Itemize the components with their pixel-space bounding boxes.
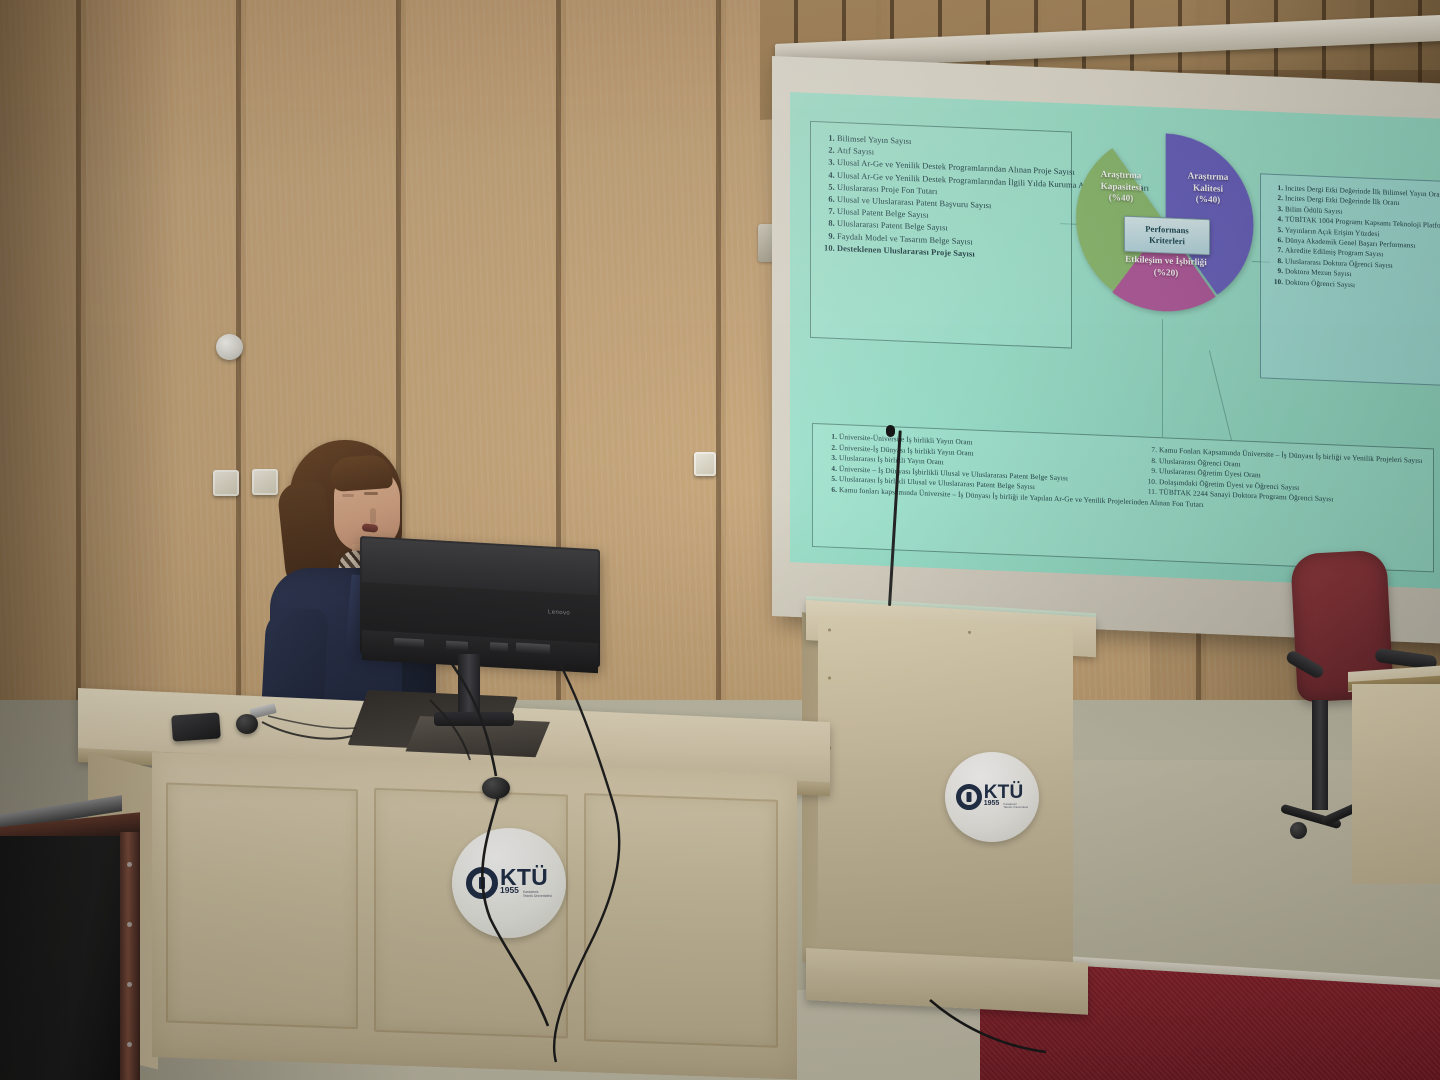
- pie-label-arastirma-kapasitesi: Araştırma Kapasitesi (%40): [1082, 168, 1160, 206]
- ktu-emblem-icon: [466, 867, 498, 899]
- ktu-logo-year: 1955: [984, 801, 1000, 807]
- side-table-body: [1352, 684, 1440, 884]
- lapel-microphone[interactable]: [236, 714, 258, 734]
- bottom-column-right: Kamu Fonları Kapsamında Üniversite – İş …: [1141, 444, 1423, 571]
- bottom-right-list: Kamu Fonları Kapsamında Üniversite – İş …: [1141, 444, 1423, 509]
- ceiling-speaker-icon: [216, 334, 243, 360]
- bottom-column-left: Üniversite-Üniversite İş birlikli Yayın …: [817, 431, 1135, 559]
- hair-fringe: [329, 454, 393, 492]
- light-switch[interactable]: [213, 470, 239, 496]
- left-criteria-list: Bilimsel Yayın SayısıAtıf SayısıUlusal A…: [815, 132, 1065, 264]
- ktu-logo-tagline-2: Teknik Üniversitesi: [1003, 805, 1028, 809]
- slide-left-criteria-panel: Bilimsel Yayın SayısıAtıf SayısıUlusal A…: [810, 121, 1072, 349]
- cable-grommet-knob: [482, 777, 510, 799]
- ktu-logo-tagline-2: Teknik Üniversitesi: [523, 894, 552, 898]
- ktu-logo-text: KTÜ: [984, 785, 1024, 801]
- ktu-logo-lectern: KTÜ 1955 Karadeniz Teknik Üniversitesi: [945, 752, 1039, 842]
- wall-shadow-left: [0, 0, 180, 800]
- ktu-emblem-icon: [956, 784, 982, 810]
- microphone-capsule-icon: [886, 425, 895, 437]
- projected-slide: Bilimsel Yayın SayısıAtıf SayısıUlusal A…: [790, 92, 1440, 589]
- center-label-line2: Kriterleri: [1149, 235, 1185, 247]
- bottom-left-list: Üniversite-Üniversite İş birlikli Yayın …: [817, 431, 1135, 508]
- pie-center-label: Performans Kriterleri: [1124, 216, 1210, 256]
- flight-case-corner-trim: [120, 832, 140, 1080]
- pie-label-etkilesim-isbirligi: Etkileşim ve İşbirliği (%20): [1120, 254, 1212, 281]
- wireless-beltpack[interactable]: [171, 712, 221, 741]
- chair-caster: [1290, 822, 1307, 839]
- computer-monitor[interactable]: Lenovo: [352, 536, 604, 696]
- flight-case: [0, 836, 138, 1080]
- presentation-photo: Bilimsel Yayın SayısıAtıf SayısıUlusal A…: [0, 0, 1440, 1080]
- pie-label-arastirma-kalitesi: Araştırma Kalitesi (%40): [1172, 170, 1244, 207]
- ktu-logo-desk: KTÜ 1955 Karadeniz Teknik Üniversitesi: [452, 828, 566, 938]
- slide-right-criteria-panel: Incites Dergi Etki Değerinde İlk Bilimse…: [1260, 173, 1440, 386]
- wall-switch-right[interactable]: [694, 452, 716, 476]
- ktu-logo-year: 1955: [500, 887, 519, 894]
- chair-gas-lift: [1312, 700, 1328, 810]
- monitor-stand-base: [434, 712, 514, 726]
- slide-bottom-criteria-panel: Üniversite-Üniversite İş birlikli Yayın …: [812, 423, 1434, 573]
- right-criteria-list: Incites Dergi Etki Değerinde İlk Bilimse…: [1263, 182, 1440, 294]
- monitor-brand-label: Lenovo: [548, 609, 570, 616]
- monitor-stand-stem: [458, 654, 480, 716]
- mouth: [362, 523, 379, 533]
